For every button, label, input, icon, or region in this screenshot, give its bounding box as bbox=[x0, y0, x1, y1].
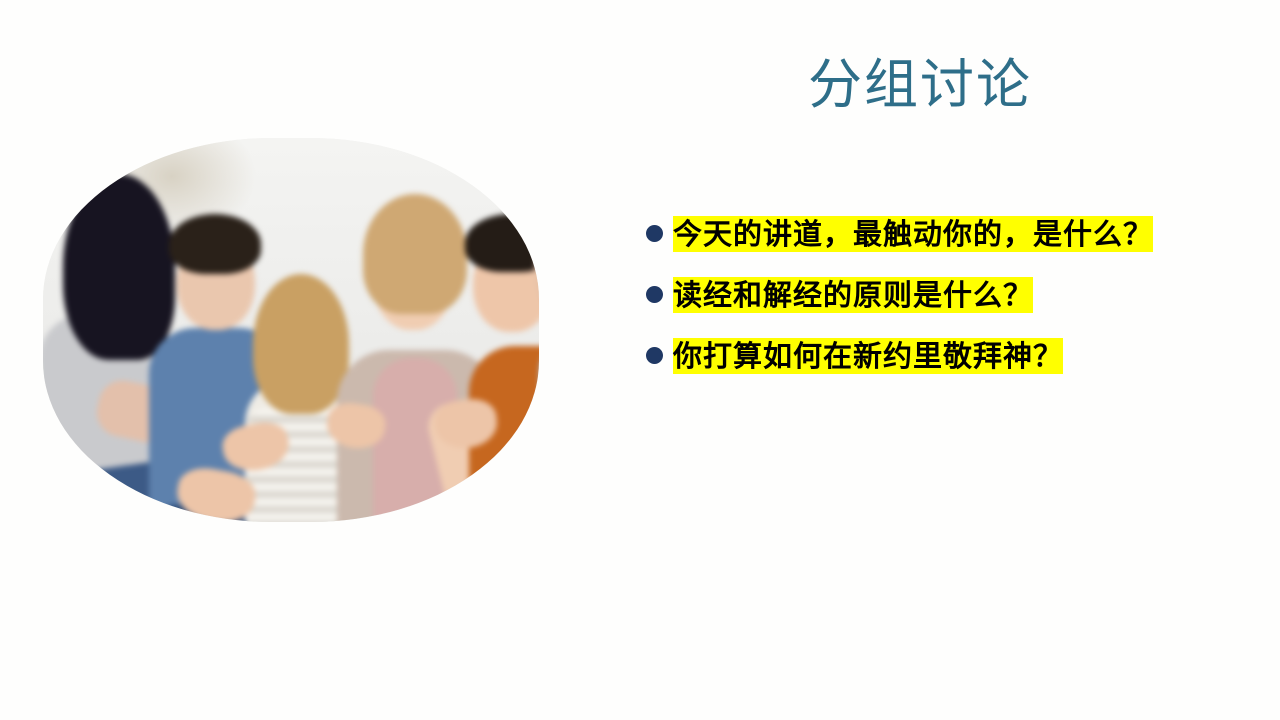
discussion-question-3-text: 你打算如何在新约里敬拜神？ bbox=[673, 338, 1063, 374]
list-item: 今天的讲道，最触动你的，是什么？ bbox=[646, 214, 1206, 255]
photo-person-2-hair bbox=[169, 214, 261, 274]
photo-person-3-hair bbox=[253, 274, 349, 414]
discussion-question-3: 你打算如何在新约里敬拜神？ bbox=[673, 336, 1063, 377]
photo-person-1-hair bbox=[63, 174, 175, 360]
photo-people-group bbox=[43, 138, 539, 522]
discussion-question-2: 读经和解经的原则是什么？ bbox=[673, 275, 1033, 316]
presentation-slide: 分组讨论 bbox=[0, 0, 1280, 720]
bullet-dot-icon bbox=[646, 225, 663, 242]
group-discussion-photo bbox=[43, 138, 539, 522]
bullet-dot-icon bbox=[646, 286, 663, 303]
photo-person-4-hair bbox=[363, 194, 467, 314]
discussion-question-1-text: 今天的讲道，最触动你的，是什么？ bbox=[673, 216, 1153, 252]
bullet-dot-icon bbox=[646, 347, 663, 364]
discussion-question-2-text: 读经和解经的原则是什么？ bbox=[673, 277, 1033, 313]
page-title: 分组讨论 bbox=[640, 52, 1200, 118]
list-item: 你打算如何在新约里敬拜神？ bbox=[646, 336, 1206, 377]
discussion-question-1: 今天的讲道，最触动你的，是什么？ bbox=[673, 214, 1165, 255]
list-item: 读经和解经的原则是什么？ bbox=[646, 275, 1206, 316]
discussion-questions-list: 今天的讲道，最触动你的，是什么？ 读经和解经的原则是什么？ 你打算如何在新约里敬… bbox=[646, 214, 1206, 377]
